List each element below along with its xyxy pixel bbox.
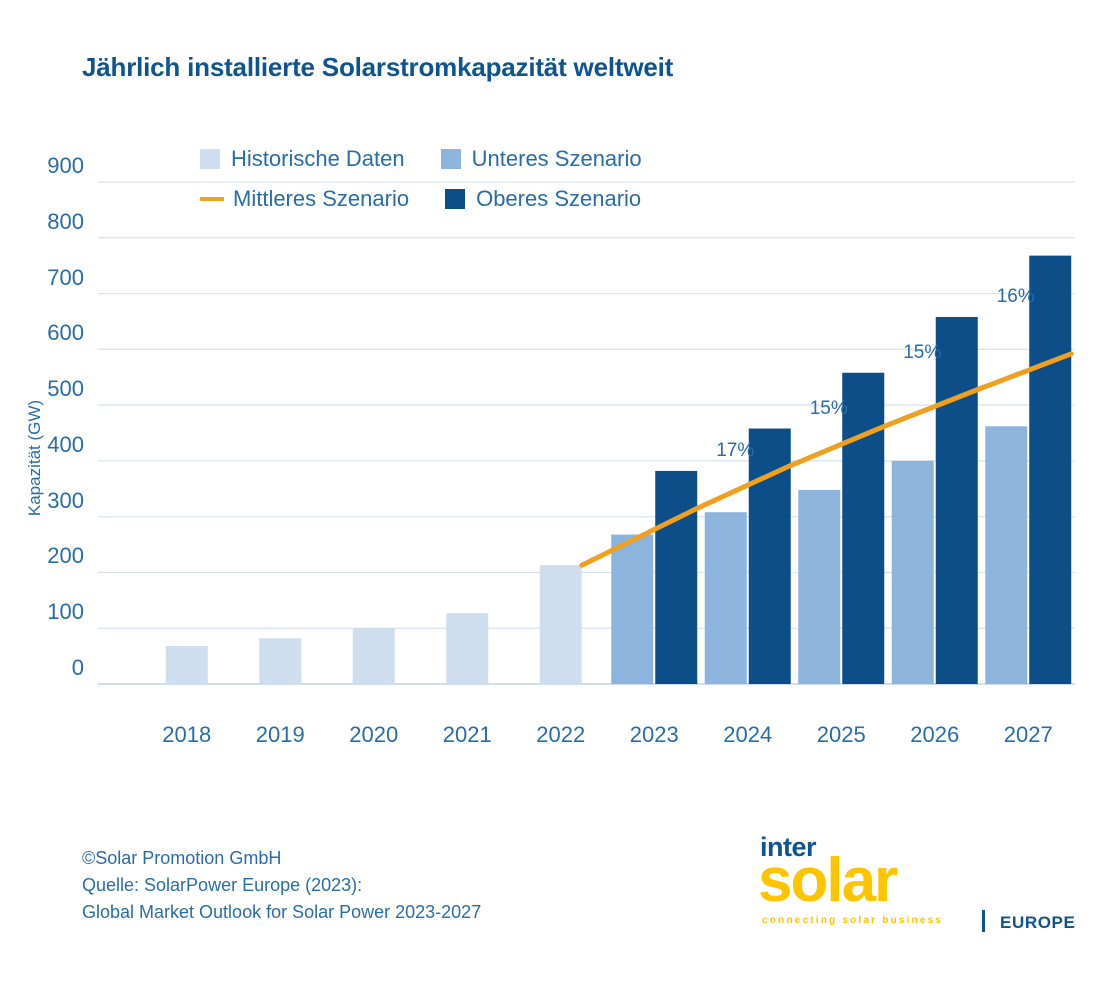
x-tick-label: 2023: [609, 722, 699, 748]
legend-line-icon: [200, 197, 224, 201]
footer-line-report: Global Market Outlook for Solar Power 20…: [82, 899, 481, 926]
footer-credits: ©Solar Promotion GmbH Quelle: SolarPower…: [82, 845, 481, 926]
logo-region-text: EUROPE: [1000, 913, 1075, 933]
legend-item-unteres-szenario: Unteres Szenario: [441, 146, 642, 172]
bar-low: [705, 512, 747, 684]
x-tick-label: 2025: [796, 722, 886, 748]
y-tick-label: 600: [22, 320, 84, 346]
bar-historical: [353, 628, 395, 684]
bar-low: [798, 490, 840, 684]
intersolar-europe-logo: inter solar connecting solar business EU…: [760, 832, 1072, 932]
chart-legend: Historische Daten Unteres Szenario Mittl…: [200, 146, 642, 226]
legend-label: Unteres Szenario: [472, 146, 642, 172]
bar-historical: [259, 638, 301, 684]
bar-historical: [540, 565, 582, 684]
bar-high: [655, 471, 697, 684]
logo-solar-text: solar: [758, 850, 896, 912]
growth-label: 17%: [700, 440, 770, 462]
bar-low: [892, 461, 934, 684]
logo-divider: [982, 910, 985, 932]
legend-swatch-icon: [445, 189, 465, 209]
legend-label: Mittleres Szenario: [233, 186, 409, 212]
x-tick-label: 2018: [142, 722, 232, 748]
footer-line-copyright: ©Solar Promotion GmbH: [82, 845, 481, 872]
y-tick-label: 0: [22, 655, 84, 681]
y-tick-label: 500: [22, 376, 84, 402]
y-tick-label: 700: [22, 265, 84, 291]
x-tick-label: 2026: [890, 722, 980, 748]
legend-row-1: Historische Daten Unteres Szenario: [200, 146, 642, 172]
logo-tagline: connecting solar business: [762, 915, 943, 926]
chart-plot: [0, 0, 1100, 760]
legend-row-2: Mittleres Szenario Oberes Szenario: [200, 186, 642, 212]
bar-high: [936, 317, 978, 684]
growth-label: 16%: [981, 286, 1051, 308]
legend-swatch-icon: [441, 149, 461, 169]
bar-historical: [446, 613, 488, 684]
legend-item-oberes-szenario: Oberes Szenario: [445, 186, 641, 212]
footer-line-source: Quelle: SolarPower Europe (2023):: [82, 872, 481, 899]
x-tick-label: 2019: [235, 722, 325, 748]
growth-label: 15%: [794, 398, 864, 420]
x-tick-label: 2024: [703, 722, 793, 748]
y-tick-label: 900: [22, 153, 84, 179]
legend-item-mittleres-szenario: Mittleres Szenario: [200, 186, 409, 212]
y-tick-label: 800: [22, 209, 84, 235]
legend-label: Oberes Szenario: [476, 186, 641, 212]
x-tick-label: 2021: [422, 722, 512, 748]
x-tick-label: 2027: [983, 722, 1073, 748]
x-tick-label: 2022: [516, 722, 606, 748]
legend-swatch-icon: [200, 149, 220, 169]
y-tick-label: 300: [22, 488, 84, 514]
growth-label: 15%: [887, 342, 957, 364]
legend-label: Historische Daten: [231, 146, 405, 172]
x-tick-label: 2020: [329, 722, 419, 748]
y-tick-label: 100: [22, 599, 84, 625]
bar-low: [985, 426, 1027, 684]
y-tick-label: 400: [22, 432, 84, 458]
bar-high: [1029, 256, 1071, 684]
bar-historical: [166, 646, 208, 684]
legend-item-historische-daten: Historische Daten: [200, 146, 405, 172]
y-tick-label: 200: [22, 543, 84, 569]
bar-low: [611, 535, 653, 684]
